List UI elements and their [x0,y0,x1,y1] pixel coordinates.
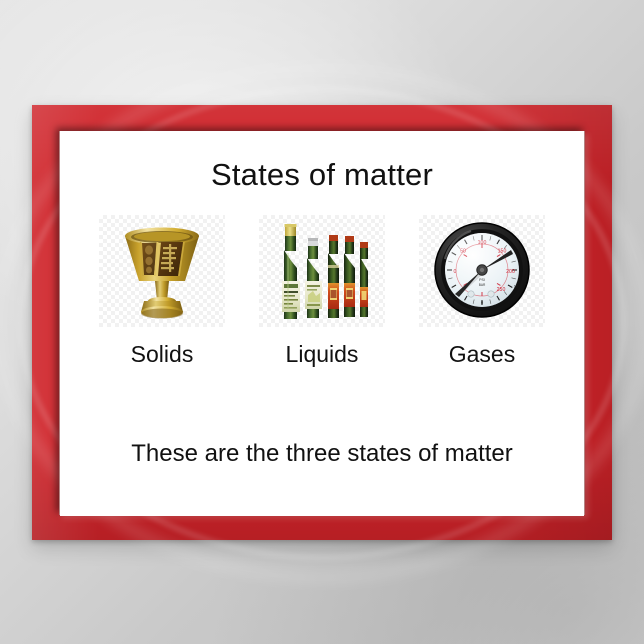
solid-figure-container [99,215,225,327]
state-label-solids: Solids [131,341,194,368]
brass-goblet-image [99,215,225,327]
state-column-liquids: Liquids [247,215,397,368]
state-label-liquids: Liquids [286,341,359,368]
poster-scene: States of matter [0,0,644,644]
pressure-gauge-image: 100 150 200 250 50 0 0 10 [419,215,545,327]
states-row: Solids [60,215,584,368]
state-column-gases: 100 150 200 250 50 0 0 10 [407,215,557,368]
page-title: States of matter [60,157,584,193]
state-column-solids: Solids [87,215,237,368]
state-label-gases: Gases [449,341,515,368]
bottle-5 [360,242,368,317]
gas-figure-container: 100 150 200 250 50 0 0 10 [419,215,545,327]
bottle-2 [305,238,322,318]
bottle-1 [282,224,300,319]
glass-bottles-image [259,215,385,327]
liquid-figure-container [259,215,385,327]
poster-artwork: States of matter [60,131,584,516]
bottle-3 [328,235,339,318]
poster-footnote: These are the three states of matter [60,440,584,468]
bottle-4 [344,236,355,317]
